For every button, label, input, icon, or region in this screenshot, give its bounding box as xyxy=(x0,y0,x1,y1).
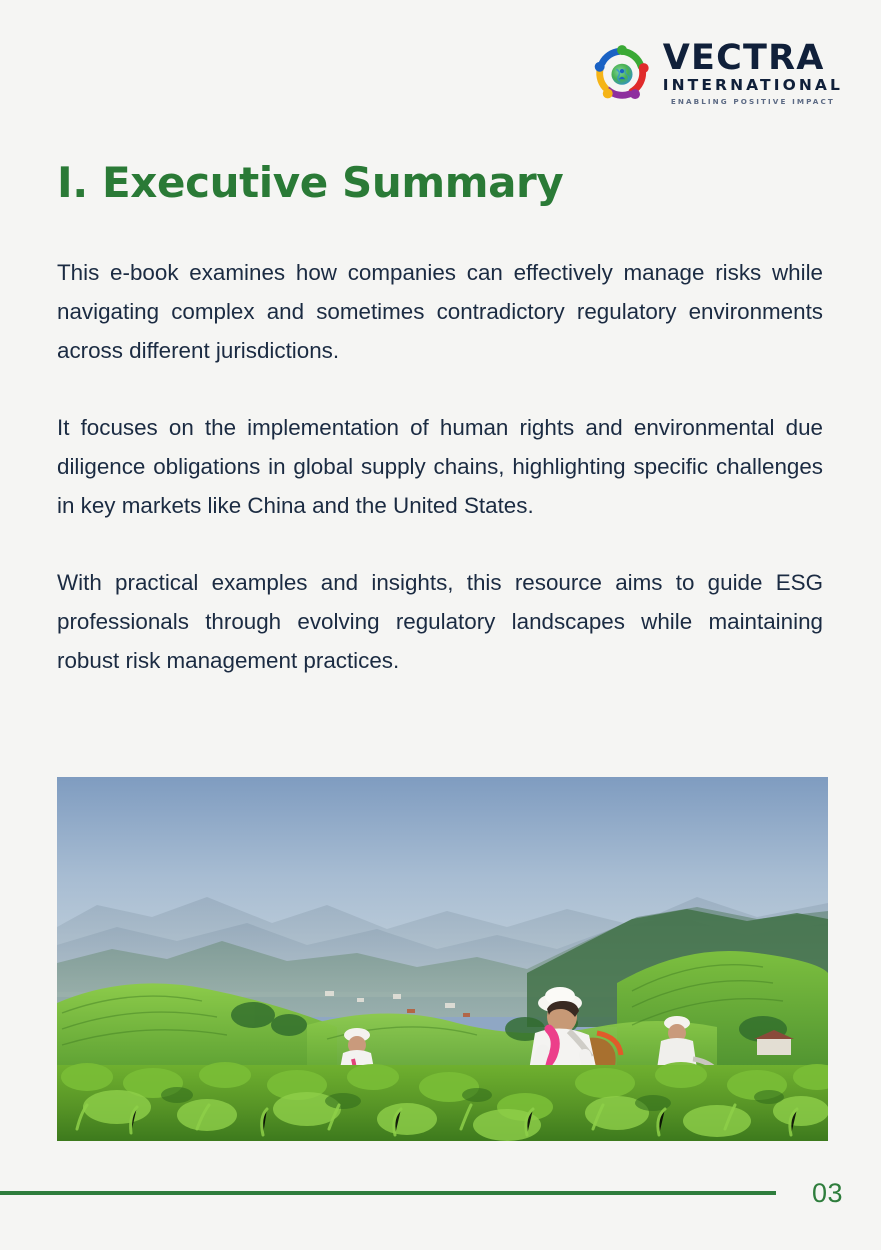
vectra-circle-people-globe-icon xyxy=(591,42,653,104)
body-copy: This e-book examines how companies can e… xyxy=(57,253,823,680)
logo-subbrand: INTERNATIONAL xyxy=(663,78,843,94)
footer-divider xyxy=(0,1191,776,1195)
logo-tagline: ENABLING POSITIVE IMPACT xyxy=(663,98,843,105)
paragraph-3: With practical examples and insights, th… xyxy=(57,563,823,680)
vectra-logo: VECTRA INTERNATIONAL ENABLING POSITIVE I… xyxy=(591,42,843,105)
logo-wordmark: VECTRA INTERNATIONAL ENABLING POSITIVE I… xyxy=(663,42,843,105)
page-title: I. Executive Summary xyxy=(57,158,563,207)
logo-brand-name: VECTRA xyxy=(663,42,843,75)
paragraph-1: This e-book examines how companies can e… xyxy=(57,253,823,370)
paragraph-2: It focuses on the implementation of huma… xyxy=(57,408,823,525)
document-page: VECTRA INTERNATIONAL ENABLING POSITIVE I… xyxy=(0,0,881,1250)
tea-plantation-photo xyxy=(57,777,828,1141)
page-number: 03 xyxy=(812,1178,843,1209)
